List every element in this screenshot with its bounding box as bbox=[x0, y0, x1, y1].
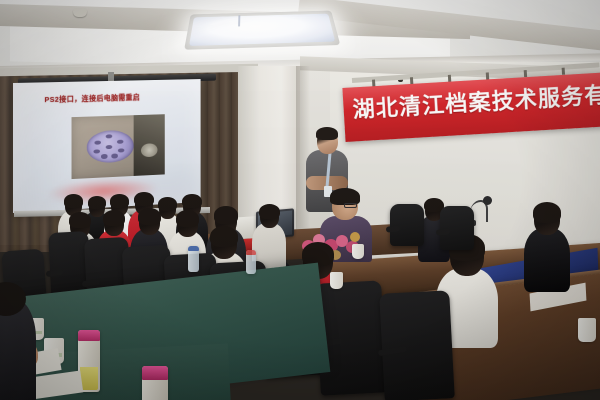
slide-photo-ps2-port bbox=[72, 115, 165, 179]
office-chair bbox=[379, 290, 455, 400]
attendee-hair bbox=[533, 202, 561, 223]
attendee-hair bbox=[134, 192, 154, 206]
slide-title-text: PS2接口，连接后电脑需重启 bbox=[44, 90, 197, 105]
attendee-hair bbox=[158, 197, 177, 211]
attendee-torso bbox=[524, 228, 570, 292]
ps2-port-icon bbox=[87, 130, 134, 163]
bottle-cap bbox=[78, 330, 100, 341]
paper-cup bbox=[352, 244, 364, 259]
conference-room-photo: PS2接口，连接后电脑需重启 湖北清江档案技术服务有限 bbox=[0, 0, 600, 400]
attendee-hair bbox=[110, 194, 129, 208]
ceiling-light-panel bbox=[184, 11, 340, 50]
light-seam bbox=[238, 15, 240, 26]
attendee-hair bbox=[302, 242, 334, 266]
bottle-cap bbox=[246, 250, 256, 255]
attendee-hair bbox=[210, 226, 238, 247]
water-bottle bbox=[188, 246, 199, 272]
paper-cup bbox=[330, 272, 343, 289]
water-bottle bbox=[246, 250, 256, 274]
glasses-icon bbox=[344, 203, 357, 208]
attendee-hair bbox=[69, 212, 91, 228]
bottle-cap bbox=[142, 366, 168, 380]
attendee-hair bbox=[259, 204, 280, 219]
attendee-hair bbox=[176, 210, 199, 227]
microphone-head-icon bbox=[483, 196, 492, 205]
attendee-hair bbox=[64, 194, 83, 208]
attendee-hair bbox=[182, 194, 202, 208]
attendee-hair bbox=[138, 208, 161, 225]
attendee-hair bbox=[103, 210, 125, 226]
light-diffuser bbox=[189, 14, 335, 46]
paper-cup bbox=[578, 318, 596, 342]
bottle-cap bbox=[188, 246, 199, 251]
water-bottle bbox=[142, 366, 168, 400]
presenter-hair bbox=[316, 127, 338, 140]
projection-screen: PS2接口，连接后电脑需重启 bbox=[13, 79, 201, 213]
smoke-detector-icon bbox=[73, 8, 87, 17]
attendee-hair bbox=[214, 206, 238, 224]
attendee-hair bbox=[88, 196, 106, 209]
